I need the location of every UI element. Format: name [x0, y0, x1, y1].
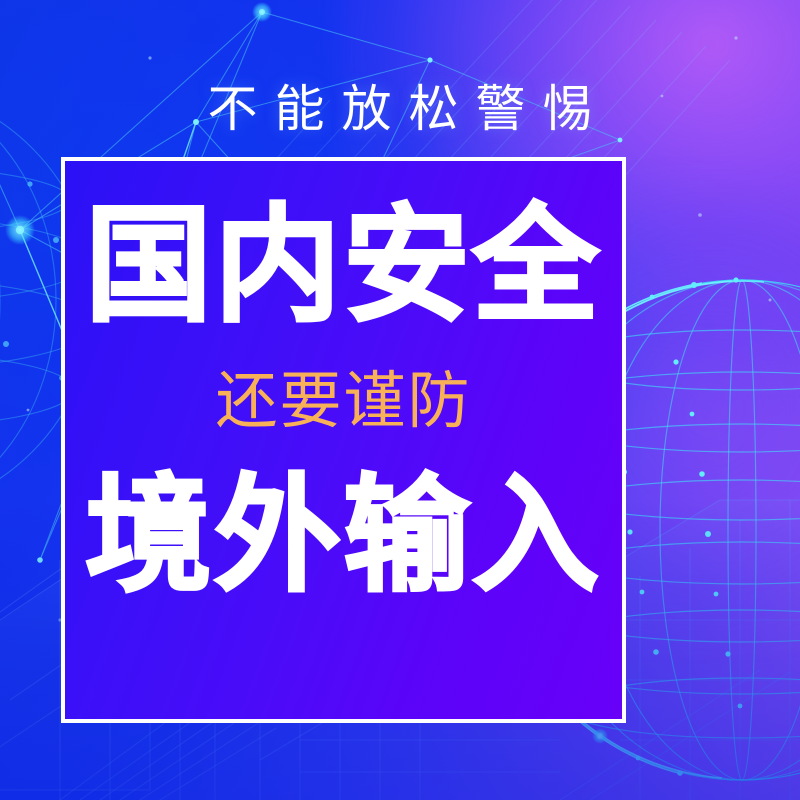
- panel-line-middle: 还要谨防: [215, 371, 471, 433]
- poster-headline: 不能放松警惕: [0, 84, 800, 134]
- panel-line-top: 国内安全: [86, 203, 602, 329]
- poster-canvas: 不能放松警惕 国内安全 还要谨防 境外输入: [0, 0, 800, 800]
- message-panel: 国内安全 还要谨防 境外输入: [61, 157, 626, 723]
- panel-line-bottom: 境外输入: [86, 473, 602, 599]
